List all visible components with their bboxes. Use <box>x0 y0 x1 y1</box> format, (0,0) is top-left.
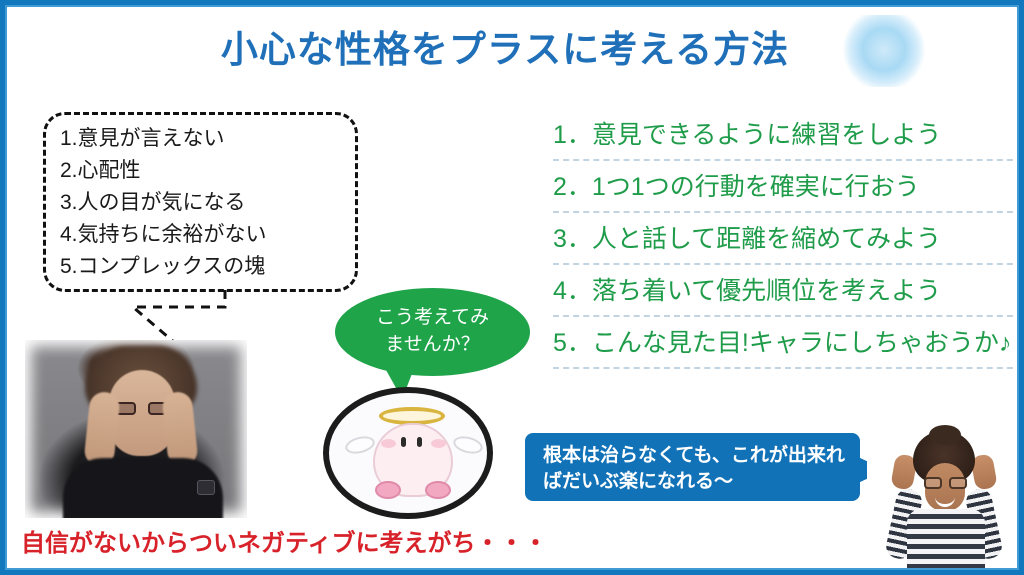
solutions-list: 1．意見できるように練習をしよう 2．1つ1つの行動を確実に行おう 3．人と話し… <box>553 109 1023 369</box>
list-item: 4.気持ちに余裕がない <box>60 219 349 251</box>
list-item: 5．こんな見た目!キャラにしちゃおうか♪ <box>553 317 1023 369</box>
page-title: 小心な性格をプラスに考える方法 <box>155 19 855 73</box>
list-item: 2.心配性 <box>60 155 349 187</box>
blue-callout: 根本は治らなくても、これが出来れ ばだいぶ楽になれる〜 <box>525 433 860 501</box>
weak-points-list: 1.意見が言えない 2.心配性 3.人の目が気になる 4.気持ちに余裕がない 5… <box>60 123 349 283</box>
negative-caption: 自信がないからついネガティブに考えがち・・・ <box>21 523 548 558</box>
callout-line1: 根本は治らなくても、これが出来れ <box>543 443 848 469</box>
angel-character-icon <box>323 387 493 519</box>
list-item: 2．1つ1つの行動を確実に行おう <box>553 161 1023 213</box>
glasses-icon <box>924 477 967 489</box>
list-item: 4．落ち着いて優先順位を考えよう <box>553 265 1023 317</box>
green-bubble-line1: こう考えてみ <box>335 304 530 331</box>
list-item: 1.意見が言えない <box>60 123 349 155</box>
list-item: 5.コンプレックスの塊 <box>60 251 349 283</box>
list-item: 3.人の目が気になる <box>60 187 349 219</box>
callout-line2: ばだいぶ楽になれる〜 <box>543 469 848 495</box>
weak-points-bubble: 1.意見が言えない 2.心配性 3.人の目が気になる 4.気持ちに余裕がない 5… <box>43 112 358 292</box>
green-bubble-line2: ませんか？ <box>335 331 530 358</box>
slide: 小心な性格をプラスに考える方法 1.意見が言えない 2.心配性 3.人の目が気に… <box>0 0 1024 575</box>
stressed-man-photo <box>25 340 247 518</box>
green-suggestion-bubble: こう考えてみ ませんか？ <box>335 288 530 376</box>
list-item: 3．人と話して距離を縮めてみよう <box>553 213 1023 265</box>
lightbulb-icon <box>843 15 925 87</box>
smiling-woman-photo <box>867 425 1019 573</box>
list-item: 1．意見できるように練習をしよう <box>553 109 1023 161</box>
